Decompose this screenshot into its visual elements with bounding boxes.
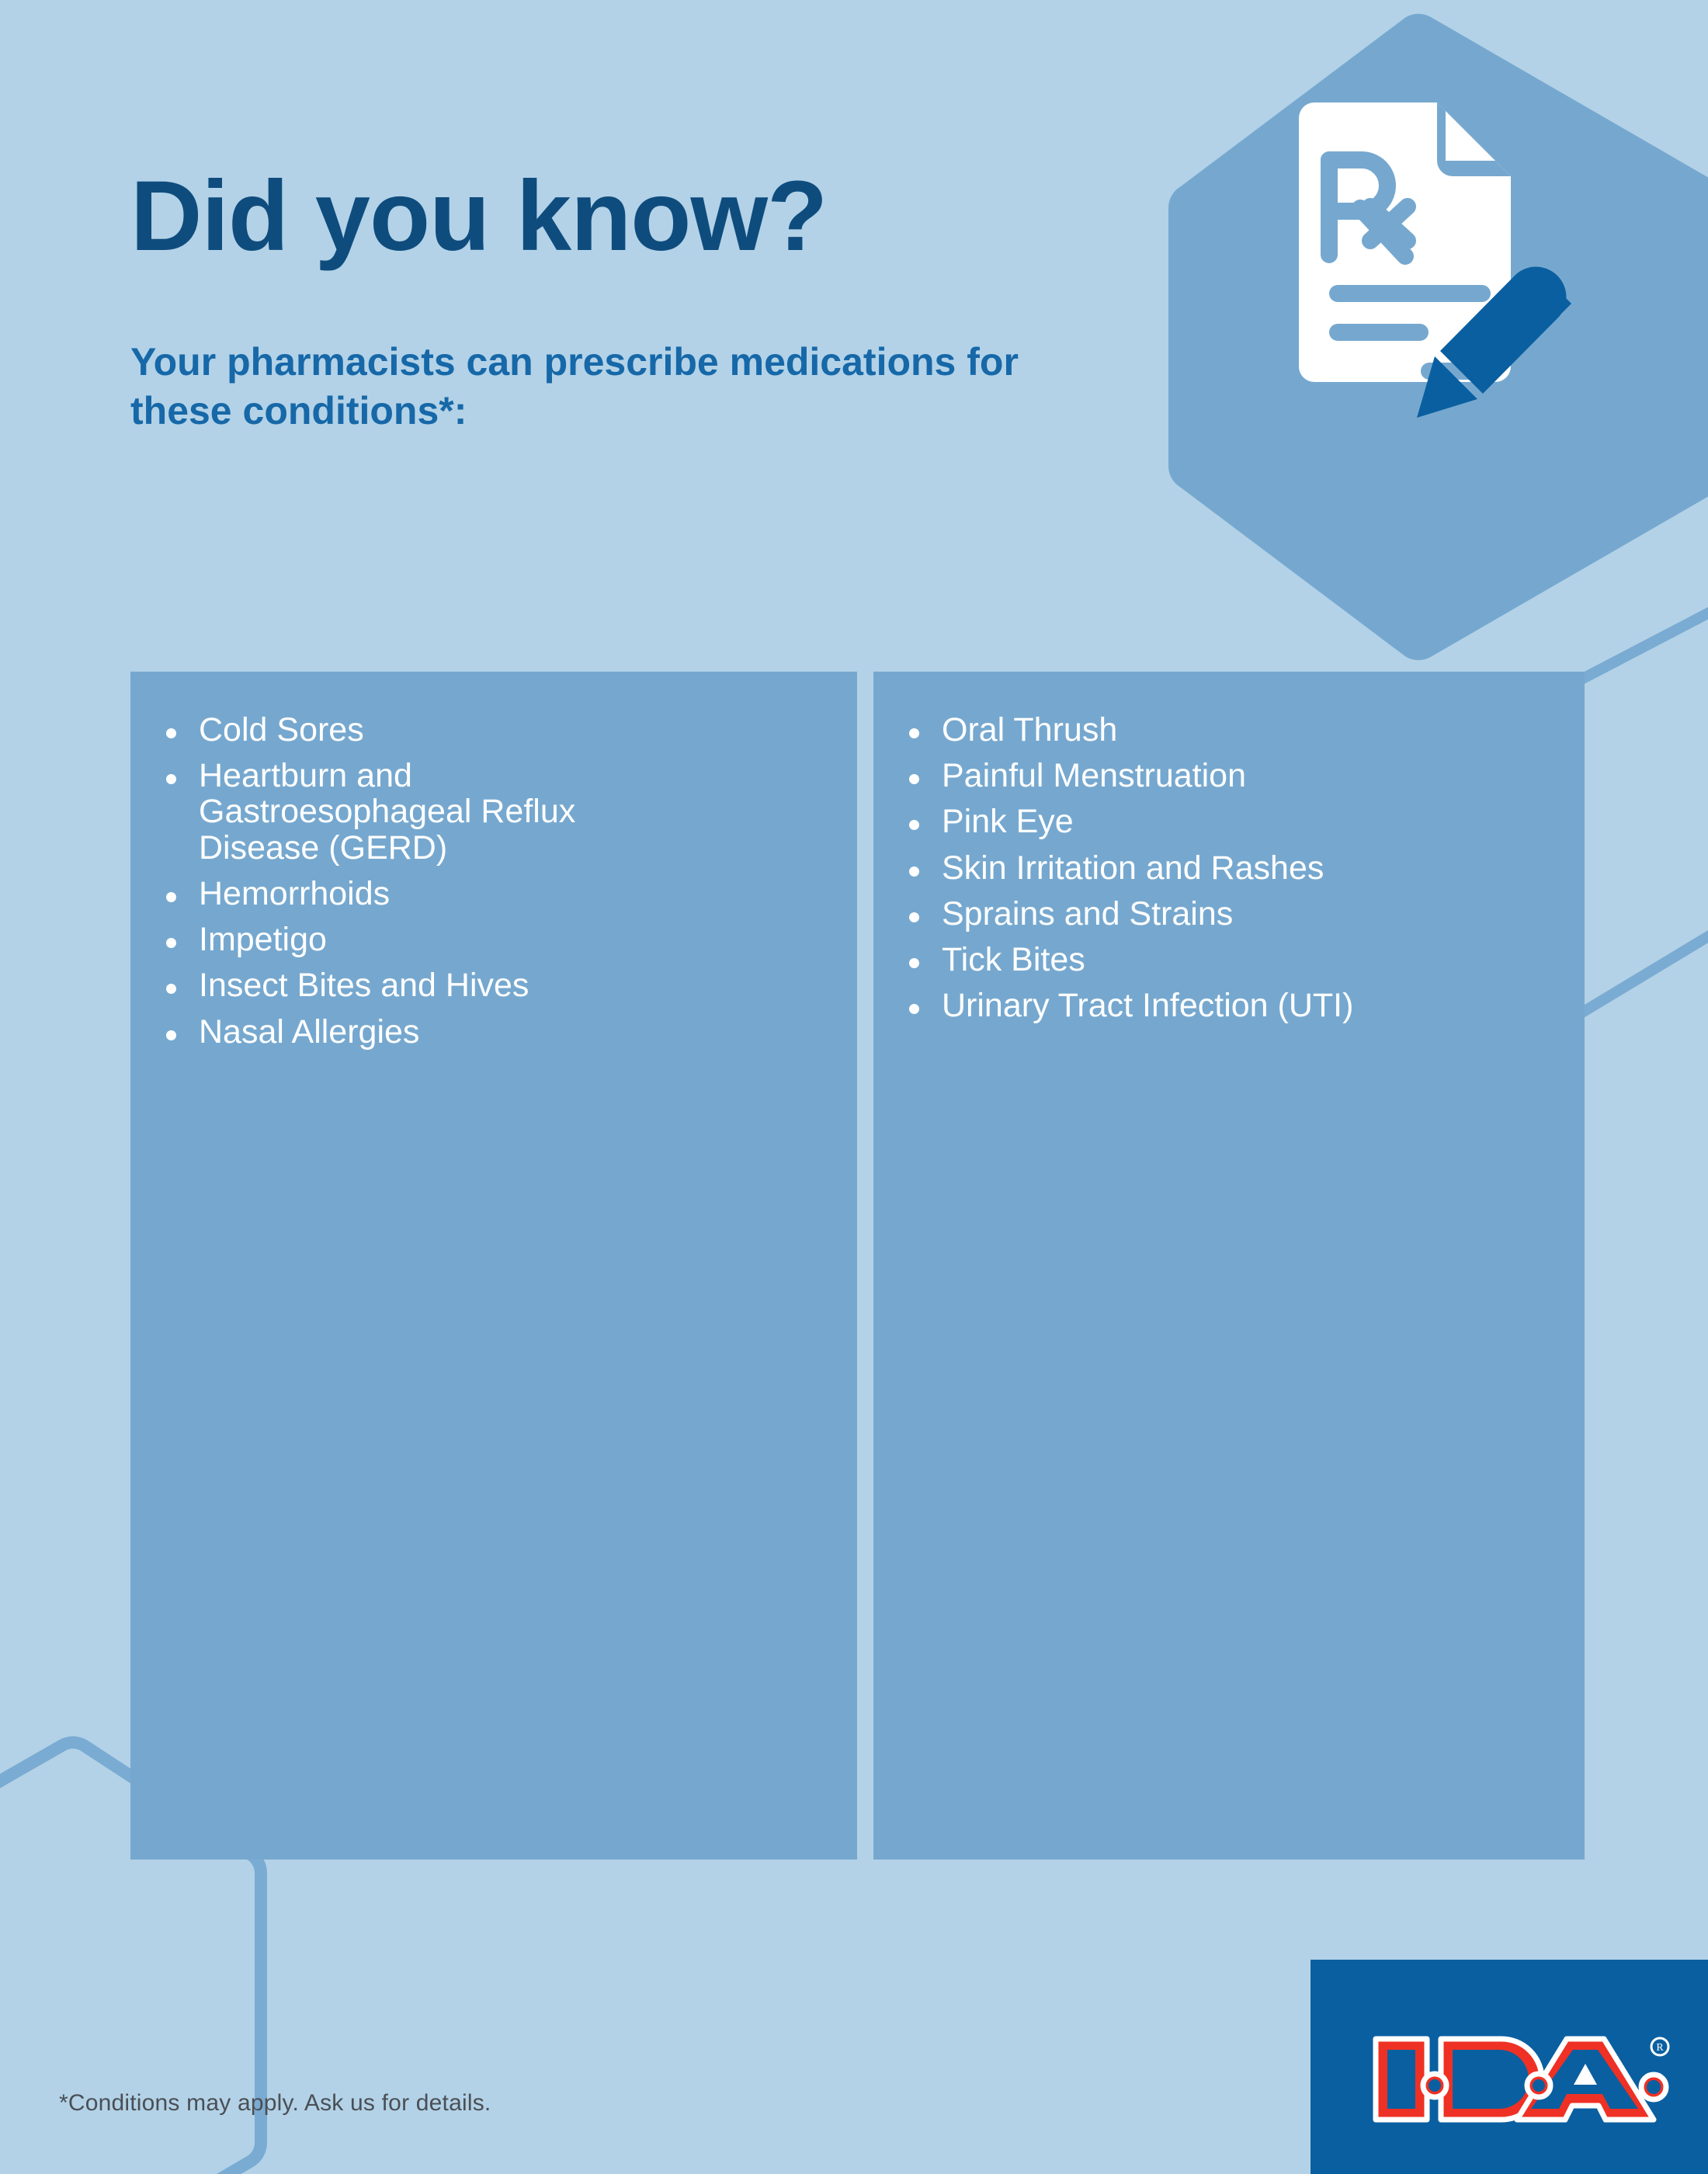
document-fold-white-icon [1446, 111, 1495, 161]
logo-dot-3-center [1647, 2080, 1661, 2094]
bullet-icon [166, 938, 176, 948]
footnote: *Conditions may apply. Ask us for detail… [59, 2090, 491, 2117]
bullet-icon [166, 984, 176, 994]
list-item-label: Impetigo [199, 922, 834, 957]
bullet-icon [909, 820, 919, 830]
conditions-right-panel: Oral Thrush Painful Menstruation Pink Ey… [873, 672, 1585, 1860]
list-item-label: Cold Sores [199, 712, 834, 748]
list-item: Skin Irritation and Rashes [897, 850, 1561, 886]
conditions-right-list: Oral Thrush Painful Menstruation Pink Ey… [897, 712, 1561, 1024]
document-line-1-icon [1329, 285, 1491, 302]
bullet-icon [909, 912, 919, 922]
document-line-2-icon [1329, 324, 1429, 341]
list-item: Impetigo [154, 922, 834, 957]
list-item: Insect Bites and Hives [154, 967, 834, 1003]
conditions-left-panel: Cold Sores Heartburn and Gastroesophagea… [130, 672, 857, 1860]
bullet-icon [909, 1004, 919, 1014]
ida-logo-box: R [1311, 1960, 1708, 2174]
header: Did you know? Your pharmacists can presc… [130, 167, 1140, 435]
list-item: Oral Thrush [897, 712, 1561, 748]
conditions-left-list: Cold Sores Heartburn and Gastroesophagea… [154, 712, 834, 1050]
list-item: Nasal Allergies [154, 1014, 834, 1050]
list-item-label: Tick Bites [942, 942, 1561, 978]
bullet-icon [166, 1030, 176, 1040]
list-item-label: Insect Bites and Hives [199, 967, 834, 1003]
list-item-label: Hemorrhoids [199, 876, 834, 912]
list-item-label: Oral Thrush [942, 712, 1561, 748]
bullet-icon [909, 728, 919, 738]
list-item-label: Pink Eye [942, 804, 1561, 839]
logo-letter-d-counter [1453, 2050, 1529, 2109]
list-item: Tick Bites [897, 942, 1561, 978]
bullet-icon [909, 958, 919, 968]
list-item: Pink Eye [897, 804, 1561, 839]
list-item: Hemorrhoids [154, 876, 834, 912]
list-item-label: Skin Irritation and Rashes [942, 850, 1561, 886]
list-item-label-cont: Disease (GERD) [199, 830, 834, 866]
logo-dot-1-center [1429, 2079, 1441, 2092]
prescription-badge [1157, 8, 1592, 660]
ida-logo-icon: R [1366, 2028, 1677, 2131]
list-item: Heartburn and Gastroesophageal Reflux Di… [154, 758, 834, 866]
list-item-label: Sprains and Strains [942, 896, 1561, 932]
list-item: Sprains and Strains [897, 896, 1561, 932]
list-item-label: Heartburn and [199, 758, 834, 794]
list-item-label: Painful Menstruation [942, 758, 1561, 794]
bullet-icon [166, 774, 176, 784]
bullet-icon [166, 892, 176, 902]
list-item-label: Nasal Allergies [199, 1014, 834, 1050]
list-item: Painful Menstruation [897, 758, 1561, 794]
logo-registered-glyph: R [1656, 2042, 1664, 2054]
conditions-panels: Cold Sores Heartburn and Gastroesophagea… [130, 672, 1585, 1860]
bullet-icon [909, 866, 919, 877]
list-item-label: Urinary Tract Infection (UTI) [942, 988, 1561, 1023]
list-item: Cold Sores [154, 712, 834, 748]
logo-letter-i-counter [1387, 2050, 1415, 2109]
page-title: Did you know? [130, 167, 1140, 266]
logo-dot-2-center [1533, 2079, 1545, 2092]
bullet-icon [909, 774, 919, 784]
bullet-icon [166, 728, 176, 738]
list-item: Urinary Tract Infection (UTI) [897, 988, 1561, 1023]
prescription-document-icon [1157, 8, 1592, 660]
page-subtitle: Your pharmacists can prescribe medicatio… [130, 338, 1047, 435]
list-item-label-cont: Gastroesophageal Reflux [199, 794, 834, 829]
